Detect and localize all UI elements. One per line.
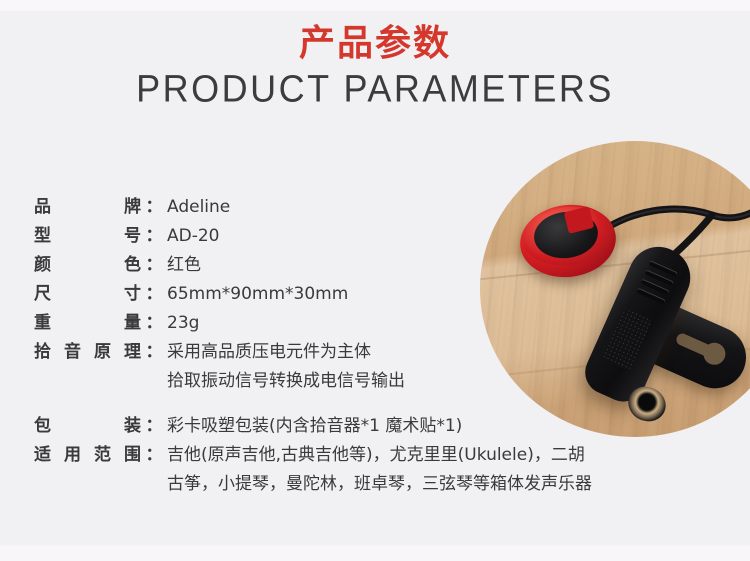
parameter-value: 65mm*90mm*30mm <box>167 280 634 309</box>
parameter-label: 包装 <box>34 412 141 441</box>
parameter-label: 颜色 <box>34 251 141 280</box>
parameter-value: Adeline <box>167 193 634 222</box>
parameter-row-packaging: 包装 ： 彩卡吸塑包装(内含拾音器*1 魔术贴*1) <box>34 412 634 441</box>
parameter-label: 适用范围 <box>34 441 141 470</box>
parameter-row-color: 颜色 ： 红色 <box>34 251 634 280</box>
parameter-colon: ： <box>141 338 167 367</box>
parameter-row-principle: 拾音原理 ： 采用高品质压电元件为主体 <box>34 338 634 367</box>
parameter-colon: ： <box>141 309 167 338</box>
parameter-label: 品牌 <box>34 193 141 222</box>
parameter-label: 拾音原理 <box>34 338 141 367</box>
parameter-row-application-line2: 古筝，小提琴，曼陀林，班卓琴，三弦琴等箱体发声乐器 <box>34 470 634 499</box>
parameter-row-application: 适用范围 ： 吉他(原声吉他,古典吉他等)，尤克里里(Ukulele)，二胡 <box>34 441 634 470</box>
page-title-chinese: 产品参数 <box>0 22 750 66</box>
parameter-row-brand: 品牌 ： Adeline <box>34 193 634 222</box>
parameter-row-weight: 重量 ： 23g <box>34 309 634 338</box>
parameter-list: 品牌 ： Adeline 型号 ： AD-20 颜色 ： 红色 尺寸 ： 65m… <box>34 193 634 499</box>
page-header: 产品参数 PRODUCT PARAMETERS <box>0 0 750 110</box>
page-title-english: PRODUCT PARAMETERS <box>0 67 750 111</box>
parameter-colon: ： <box>141 251 167 280</box>
parameter-row-model: 型号 ： AD-20 <box>34 222 634 251</box>
parameter-value: AD-20 <box>167 222 634 251</box>
parameter-row-size: 尺寸 ： 65mm*90mm*30mm <box>34 280 634 309</box>
parameter-value: 古筝，小提琴，曼陀林，班卓琴，三弦琴等箱体发声乐器 <box>167 470 634 499</box>
parameter-value: 红色 <box>167 251 634 280</box>
parameter-row-principle-line2: 拾取振动信号转换成电信号输出 <box>34 367 634 396</box>
parameter-value: 23g <box>167 309 634 338</box>
parameter-label: 型号 <box>34 222 141 251</box>
parameter-value: 拾取振动信号转换成电信号输出 <box>167 367 634 396</box>
parameter-colon: ： <box>141 193 167 222</box>
product-parameters-page: 产品参数 PRODUCT PARAMETERS <box>0 0 750 561</box>
parameter-value: 彩卡吸塑包装(内含拾音器*1 魔术贴*1) <box>167 412 634 441</box>
parameter-value: 吉他(原声吉他,古典吉他等)，尤克里里(Ukulele)，二胡 <box>167 441 634 470</box>
parameter-value: 采用高品质压电元件为主体 <box>167 338 634 367</box>
parameter-colon: ： <box>141 441 167 470</box>
parameter-colon: ： <box>141 280 167 309</box>
parameter-colon: ： <box>141 222 167 251</box>
parameter-colon: ： <box>141 412 167 441</box>
parameter-label: 重量 <box>34 309 141 338</box>
parameter-label: 尺寸 <box>34 280 141 309</box>
